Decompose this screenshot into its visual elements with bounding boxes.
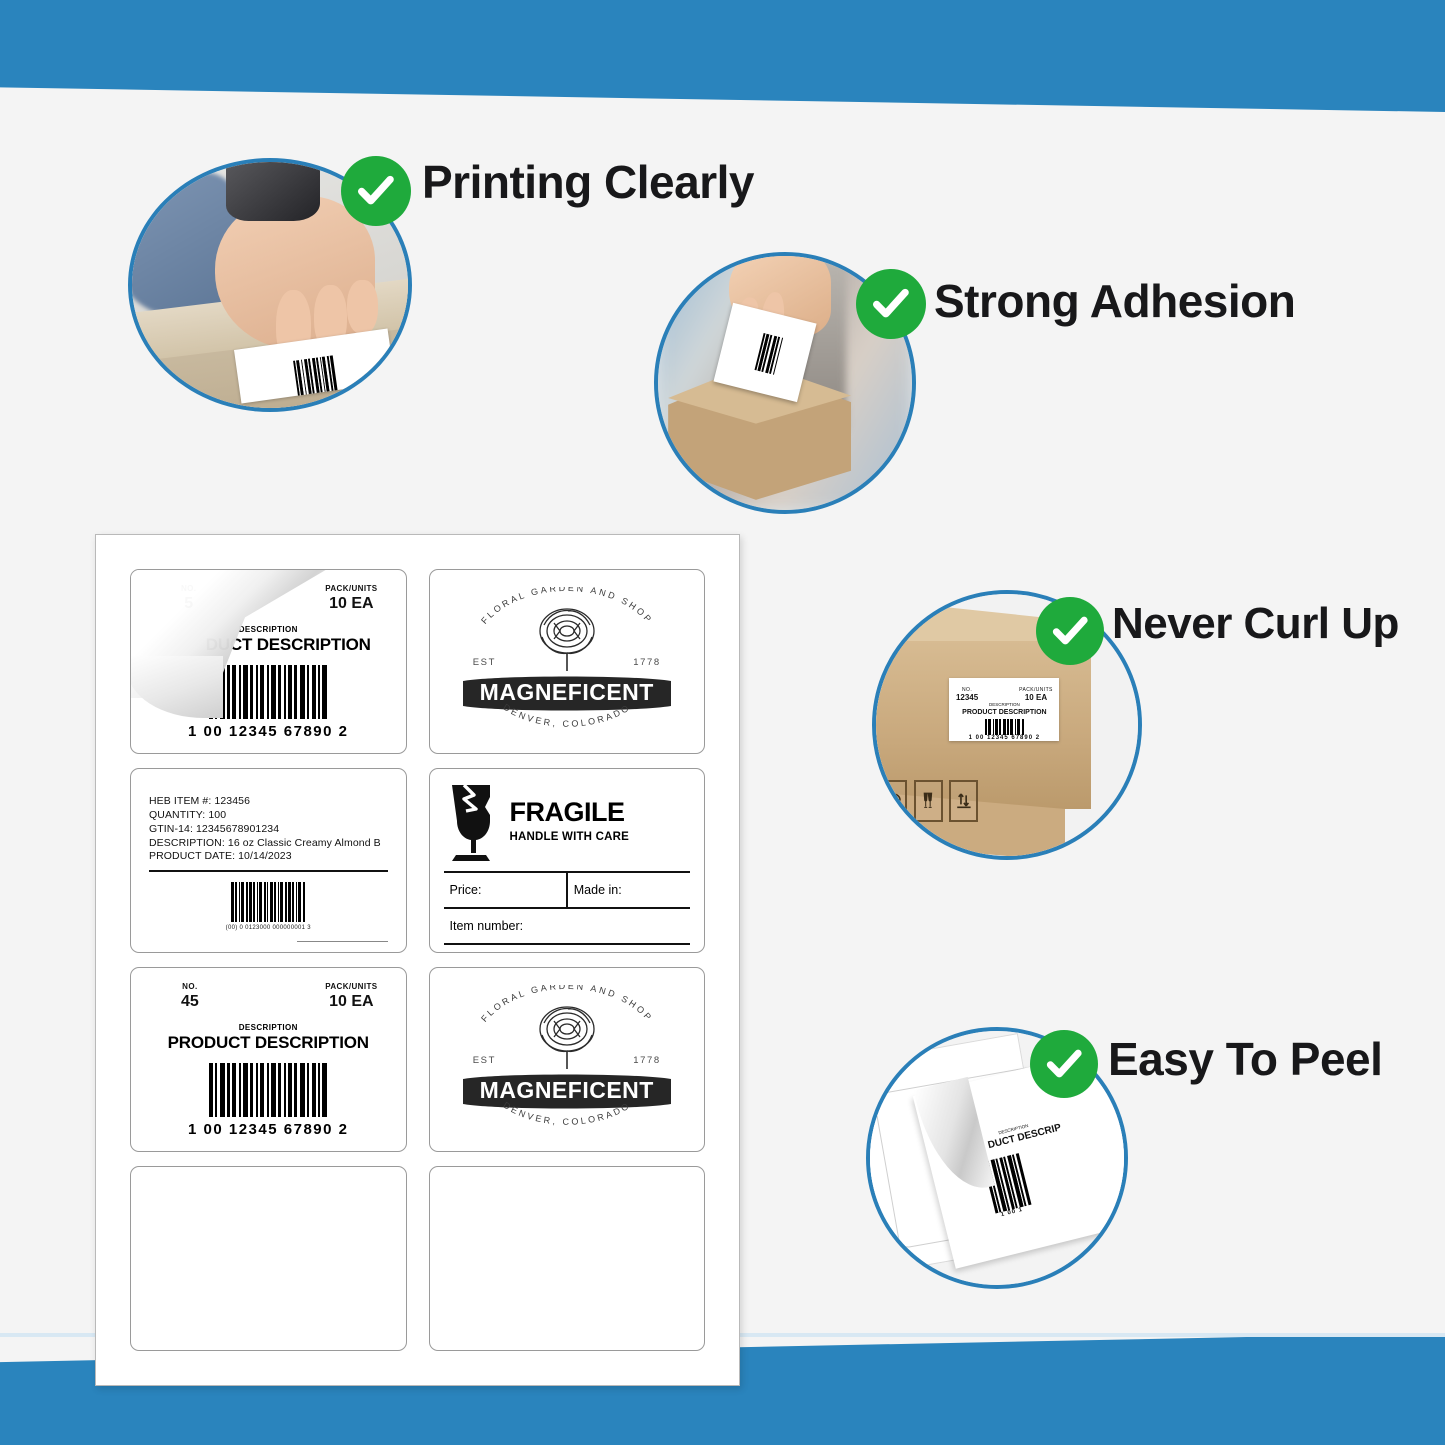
heb-line-5: PRODUCT DATE: 10/14/2023 — [149, 850, 388, 864]
check-icon-printing-clearly — [341, 156, 411, 226]
umbrella-icon — [879, 780, 908, 822]
fragile-subtitle: HANDLE WITH CARE — [510, 831, 691, 843]
check-icon-strong-adhesion — [856, 269, 926, 339]
svg-text:DENVER, COLORADO: DENVER, COLORADO — [501, 1099, 632, 1126]
label1-desc-value: DUCT DESCRIPTION — [187, 635, 390, 655]
heb-line-3: GTIN-14: 12345678901234 — [149, 823, 388, 837]
fragile-rule-3 — [444, 943, 691, 945]
feature-title-printing-clearly: Printing Clearly — [422, 155, 754, 209]
label5-desc-value: PRODUCT DESCRIPTION — [147, 1033, 390, 1053]
label-fragile[interactable]: FRAGILE HANDLE WITH CARE Price: Made in:… — [429, 768, 706, 953]
fragile-price-field[interactable]: Price: — [444, 873, 568, 907]
carton-label-no-value: 12345 — [956, 693, 978, 702]
logo-arc-bottom-text: DENVER, COLORADO — [459, 683, 675, 739]
label-magneficent-logo-2[interactable]: FLORAL GARDEN AND SHOP — [429, 967, 706, 1152]
check-icon-never-curl-up — [1036, 597, 1104, 665]
carton-label-barcode-number: 1 00 12345 67890 2 — [949, 735, 1059, 740]
label1-no-caption: NO. — [181, 584, 196, 593]
heb-footer-rule — [297, 941, 388, 942]
rose-icon — [524, 999, 610, 1069]
carton-label-pack-value: 10 EA — [1019, 693, 1053, 702]
carton-label-pack-caption: PACK/UNITS — [1019, 687, 1053, 693]
logo-est-label: EST — [473, 657, 496, 668]
fragile-glass-icon — [914, 780, 943, 822]
heb-line-4: DESCRIPTION: 16 oz Classic Creamy Almond… — [149, 837, 388, 851]
heb-line-1: HEB ITEM #: 123456 — [149, 795, 388, 809]
feature-title-never-curl-up: Never Curl Up — [1112, 599, 1399, 649]
fragile-made-in-field[interactable]: Made in: — [568, 873, 690, 907]
this-way-up-icon — [949, 780, 978, 822]
label-sheet: NO. 5 PACK/UNITS 10 EA DESCRIPTION DUCT … — [95, 534, 740, 1386]
carton-label-desc-caption: DESCRIPTION — [949, 702, 1059, 707]
label-heb-item[interactable]: HEB ITEM #: 123456 QUANTITY: 100 GTIN-14… — [130, 768, 407, 953]
label1-no-value: 5 — [181, 595, 196, 613]
label1-pack-caption: PACK/UNITS — [325, 584, 377, 593]
broken-glass-icon — [444, 781, 498, 861]
label5-pack-value: 10 EA — [325, 993, 377, 1011]
label5-barcode-number: 1 00 12345 67890 2 — [147, 1121, 390, 1138]
carton-label-desc-value: PRODUCT DESCRIPTION — [949, 709, 1059, 716]
label1-desc-caption: DESCRIPTION — [147, 625, 390, 634]
label5-no-caption: NO. — [181, 982, 199, 991]
logo2-est-year: 1778 — [633, 1055, 661, 1066]
label5-pack-caption: PACK/UNITS — [325, 982, 377, 991]
carton-shipping-label: NO. 12345 PACK/UNITS 10 EA DESCRIPTION P… — [949, 678, 1059, 741]
label-product-description-peeled[interactable]: NO. 5 PACK/UNITS 10 EA DESCRIPTION DUCT … — [130, 569, 407, 754]
rose-icon — [524, 601, 610, 671]
heb-barcode-number: (00) 0 0123000 000000001 3 — [149, 925, 388, 931]
label-blank-2[interactable] — [429, 1166, 706, 1351]
label1-pack-value: 10 EA — [325, 595, 377, 613]
label5-no-value: 45 — [181, 993, 199, 1011]
check-icon-easy-to-peel — [1030, 1030, 1098, 1098]
label-sheet-grid: NO. 5 PACK/UNITS 10 EA DESCRIPTION DUCT … — [130, 569, 705, 1351]
check-icon — [1043, 1043, 1085, 1085]
check-icon — [869, 282, 912, 325]
logo2-est-label: EST — [473, 1055, 496, 1066]
check-icon — [1049, 610, 1091, 652]
infographic-stage: Printing Clearly — [0, 0, 1445, 1445]
feature-title-strong-adhesion: Strong Adhesion — [934, 274, 1295, 328]
check-icon — [354, 169, 397, 212]
svg-text:DENVER, COLORADO: DENVER, COLORADO — [501, 701, 632, 728]
label1-barcode-number: 1 00 12345 67890 2 — [147, 723, 390, 740]
label-product-description[interactable]: NO. 45 PACK/UNITS 10 EA DESCRIPTION PROD… — [130, 967, 407, 1152]
logo2-arc-bottom-text: DENVER, COLORADO — [459, 1081, 675, 1137]
label-magneficent-logo-1[interactable]: FLORAL GARDEN AND SHOP — [429, 569, 706, 754]
heb-line-2: QUANTITY: 100 — [149, 809, 388, 823]
logo-est-year: 1778 — [633, 657, 661, 668]
label5-desc-caption: DESCRIPTION — [147, 1023, 390, 1032]
heb-divider — [149, 870, 388, 872]
logo-arc-bottom-label: DENVER, COLORADO — [501, 701, 632, 728]
logo2-arc-bottom-label: DENVER, COLORADO — [501, 1099, 632, 1126]
fragile-item-number-field[interactable]: Item number: — [444, 909, 691, 943]
label-blank-1[interactable] — [130, 1166, 407, 1351]
fragile-title: FRAGILE — [510, 799, 691, 826]
feature-title-easy-to-peel: Easy To Peel — [1108, 1032, 1382, 1086]
